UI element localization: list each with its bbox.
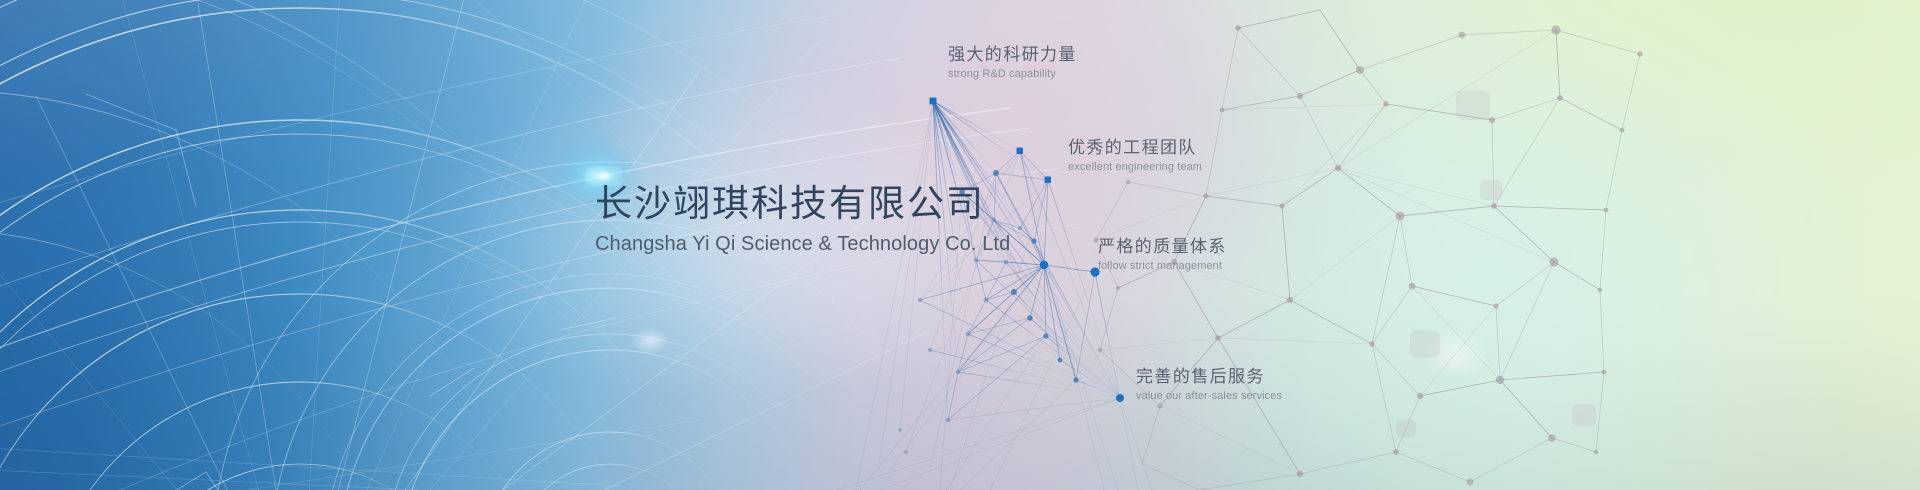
feature-item-quality: 严格的质量体系 follow strict management <box>1098 236 1227 274</box>
feature-label-en: excellent engineering team <box>1068 160 1202 175</box>
feature-label-en: value our after-sales services <box>1136 389 1282 404</box>
company-banner: 长沙翊琪科技有限公司 Changsha Yi Qi Science & Tech… <box>0 0 1920 490</box>
company-title-block: 长沙翊琪科技有限公司 Changsha Yi Qi Science & Tech… <box>595 183 995 257</box>
feature-label-cn: 优秀的工程团队 <box>1068 137 1202 159</box>
company-name-cn: 长沙翊琪科技有限公司 <box>595 183 995 227</box>
feature-label-en: strong R&D capability <box>948 67 1077 82</box>
feature-label-cn: 严格的质量体系 <box>1098 236 1227 258</box>
feature-item-after-sales: 完善的售后服务 value our after-sales services <box>1136 366 1282 404</box>
feature-item-rd: 强大的科研力量 strong R&D capability <box>948 44 1077 82</box>
feature-label-cn: 强大的科研力量 <box>948 44 1077 66</box>
feature-label-en: follow strict management <box>1098 259 1227 274</box>
feature-item-engineering: 优秀的工程团队 excellent engineering team <box>1068 137 1202 175</box>
company-name-en: Changsha Yi Qi Science & Technology Co. … <box>595 231 995 257</box>
feature-label-cn: 完善的售后服务 <box>1136 366 1282 388</box>
